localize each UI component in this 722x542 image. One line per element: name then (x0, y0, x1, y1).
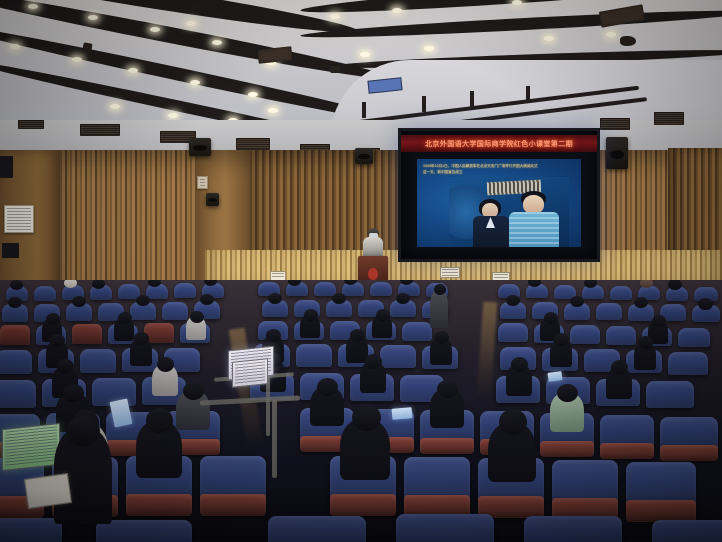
ceiling-downlight (190, 80, 200, 85)
ceiling-downlight (268, 108, 278, 113)
audience-seating-area (0, 280, 722, 542)
audience-head (190, 311, 204, 323)
audience-head (544, 312, 558, 324)
seat (498, 323, 528, 342)
seat-armrest (126, 494, 192, 516)
audience-head (434, 331, 449, 344)
standing-attendee (430, 290, 448, 328)
ceiling-downlight (512, 0, 522, 5)
audience-head (157, 357, 174, 372)
paper-document (24, 473, 72, 509)
audience-head (332, 293, 346, 304)
balcony-post (422, 96, 426, 112)
ceiling-downlight (360, 52, 370, 57)
wall-dark-panel (2, 243, 19, 258)
seat (380, 345, 416, 368)
wall-speaker (355, 148, 373, 164)
screen-banner: 北京外国语大学国际商学院红色小课堂第二期 (401, 135, 597, 152)
audience-head (146, 408, 173, 433)
ceiling-downlight (10, 44, 20, 49)
wall-notice (4, 205, 34, 233)
seat (678, 328, 710, 347)
desk-rail (272, 400, 277, 478)
ceiling-downlight (248, 92, 258, 97)
presenter (362, 228, 384, 258)
seat (396, 514, 494, 542)
seat (268, 516, 366, 542)
audience-head (511, 357, 528, 372)
presenter-mask (369, 233, 378, 238)
auditorium-photo: 北京外国语大学国际商学院红色小课堂第二期 1949年10月1日，中国人民解放军在… (0, 0, 722, 542)
wall-vent (80, 124, 120, 136)
ceiling-downlight (606, 32, 616, 37)
seat-armrest (540, 441, 594, 457)
hanging-speaker-icon (82, 42, 92, 51)
audience-head (638, 336, 653, 349)
seat (652, 520, 722, 542)
audience-head (365, 354, 382, 369)
audience-head (72, 296, 86, 307)
audience-head (46, 313, 60, 325)
ceiling-downlight (88, 15, 98, 20)
photo-person-left (473, 199, 509, 247)
desk-rail (266, 376, 270, 436)
seat (668, 352, 708, 375)
wall-dark-panel (0, 156, 13, 178)
seat (646, 381, 694, 408)
seat-armrest (330, 494, 396, 516)
seat (34, 286, 56, 301)
ceiling-downlight (150, 27, 160, 32)
balcony-post (362, 102, 366, 118)
ceiling-downlight (168, 113, 178, 118)
audience-head (499, 409, 527, 435)
seat (610, 286, 632, 300)
photo-person-shirt-stripes (509, 212, 559, 247)
wall-vent (654, 112, 684, 125)
seat (524, 516, 622, 542)
ceiling-downlight (212, 40, 222, 45)
seat (0, 380, 36, 408)
wall-notice (197, 176, 208, 189)
seat-armrest (420, 438, 474, 454)
phone (392, 407, 413, 420)
photo-person-torso (509, 212, 559, 247)
audience-head (506, 295, 520, 306)
seat-armrest (200, 494, 266, 516)
ceiling-downlight (330, 14, 340, 19)
balcony-monitor (367, 77, 402, 93)
slide-text-line-1: 1949年10月1日，中国人民解放军在北京天安门广场举行开国大典阅兵式 (423, 164, 538, 169)
ceiling-downlight (110, 104, 120, 109)
audience-head (268, 293, 282, 304)
wall-vent (236, 138, 270, 150)
audience-head (8, 297, 22, 308)
audience-head (317, 378, 338, 396)
seat (72, 324, 102, 344)
audience-head (304, 309, 318, 321)
wall-speaker (189, 138, 211, 156)
laptop (232, 358, 268, 388)
seat (80, 349, 116, 373)
audience-head (437, 380, 458, 398)
slide-photo (449, 177, 569, 247)
audience-head (376, 309, 390, 321)
screen-banner-text: 北京外国语大学国际商学院红色小课堂第二期 (425, 139, 573, 149)
seat (314, 282, 336, 296)
audience-head (652, 315, 666, 327)
seat (0, 325, 30, 345)
seat (570, 325, 600, 344)
seat (96, 520, 192, 542)
audience-head (63, 384, 84, 402)
projection-screen: 北京外国语大学国际商学院红色小课堂第二期 1949年10月1日，中国人民解放军在… (398, 128, 600, 262)
seat (0, 518, 62, 542)
audience-head (396, 293, 410, 304)
audience-head (434, 284, 446, 295)
stage-sign (440, 267, 460, 278)
audience-head (136, 295, 150, 306)
ceiling-downlight (424, 46, 434, 51)
slide: 1949年10月1日，中国人民解放军在北京天安门广场举行开国大典阅兵式 这一天，… (417, 159, 581, 247)
phone (547, 371, 562, 382)
wall-speaker (606, 137, 628, 169)
wall-speaker (206, 193, 219, 206)
seat (370, 282, 392, 296)
audience-head (10, 280, 23, 290)
seat (606, 326, 636, 345)
audience-head (57, 359, 74, 374)
seat (174, 283, 196, 298)
audience-head (557, 384, 578, 402)
seat (596, 303, 622, 320)
audience-head (352, 404, 381, 431)
ceiling-downlight (392, 8, 402, 13)
hanging-speaker-icon (330, 66, 340, 73)
audience-head (118, 312, 132, 324)
audience-head (698, 298, 713, 310)
seat (402, 322, 432, 341)
seat-armrest (600, 443, 654, 459)
slide-text-line-2: 这一天，新中国宣告成立 (423, 170, 463, 175)
ceiling-downlight (544, 36, 554, 41)
wall-vent (18, 120, 44, 129)
seat-armrest (660, 445, 718, 461)
audience-head (570, 296, 584, 307)
seat (0, 350, 32, 374)
photo-person-right (509, 191, 559, 247)
balcony-post (470, 91, 474, 107)
audience-head (634, 297, 648, 308)
ceiling-downlight (186, 21, 196, 26)
hanging-speaker-icon (620, 36, 636, 46)
laptop (2, 423, 60, 471)
balcony-post (526, 86, 530, 102)
audience-head (200, 294, 214, 305)
audience-head (134, 332, 149, 345)
seat-armrest (626, 500, 696, 522)
audience-head (611, 360, 628, 375)
audience-head (183, 382, 204, 400)
ceiling-beam (300, 6, 722, 42)
audience-head (66, 416, 100, 446)
audience-head (350, 329, 365, 342)
podium-emblem-icon (368, 268, 378, 280)
seat (162, 302, 188, 320)
ceiling-downlight (128, 68, 138, 73)
ceiling-downlight (72, 57, 82, 62)
wall-vent (600, 118, 630, 130)
audience-head (266, 329, 281, 342)
audience-head (554, 333, 569, 346)
audience-head (50, 334, 65, 347)
seat (296, 344, 332, 367)
ceiling-downlight (28, 4, 38, 9)
